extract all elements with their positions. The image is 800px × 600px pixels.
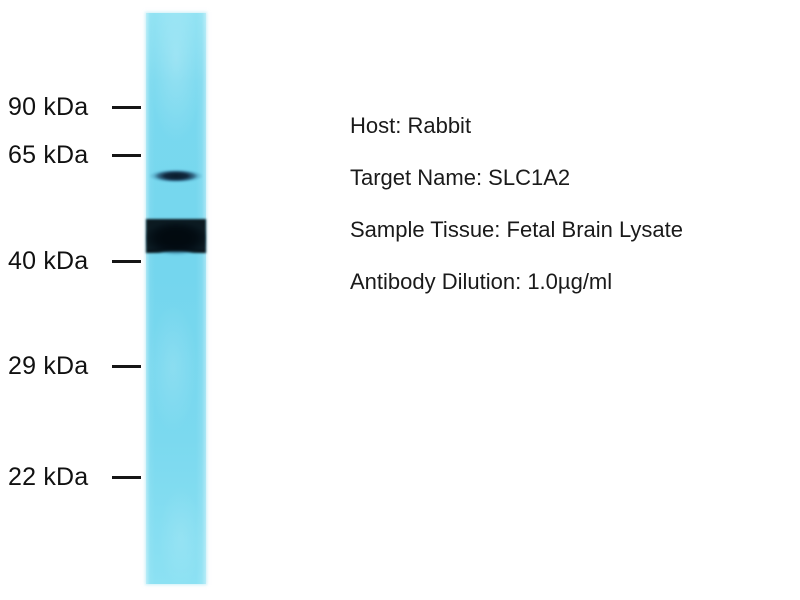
ladder-tick-65	[112, 154, 141, 157]
western-blot-figure: 90 kDa 65 kDa 40 kDa 29 kDa 22 kDa Host:…	[0, 0, 800, 600]
ladder-label-65: 65 kDa	[8, 143, 88, 168]
ladder-label-22: 22 kDa	[8, 465, 88, 490]
ladder-label-90: 90 kDa	[8, 95, 88, 120]
ladder-label-29: 29 kDa	[8, 354, 88, 379]
ladder-tick-22	[112, 476, 141, 479]
detail-antibody-dilution: Antibody Dilution: 1.0µg/ml	[350, 256, 790, 308]
detail-sample-tissue: Sample Tissue: Fetal Brain Lysate	[350, 204, 790, 256]
ladder-tick-29	[112, 365, 141, 368]
ladder-label-40: 40 kDa	[8, 249, 88, 274]
ladder-tick-40	[112, 260, 141, 263]
ladder-tick-90	[112, 106, 141, 109]
ladder-marker-40: 40 kDa	[8, 244, 88, 278]
assay-details: Host: Rabbit Target Name: SLC1A2 Sample …	[350, 100, 790, 308]
ladder-marker-90: 90 kDa	[8, 90, 88, 124]
detail-target-name: Target Name: SLC1A2	[350, 152, 790, 204]
lane-background	[146, 13, 206, 584]
detail-host: Host: Rabbit	[350, 100, 790, 152]
blot-lane	[146, 13, 206, 584]
ladder-marker-22: 22 kDa	[8, 460, 88, 494]
ladder-marker-29: 29 kDa	[8, 349, 88, 383]
ladder-marker-65: 65 kDa	[8, 138, 88, 172]
